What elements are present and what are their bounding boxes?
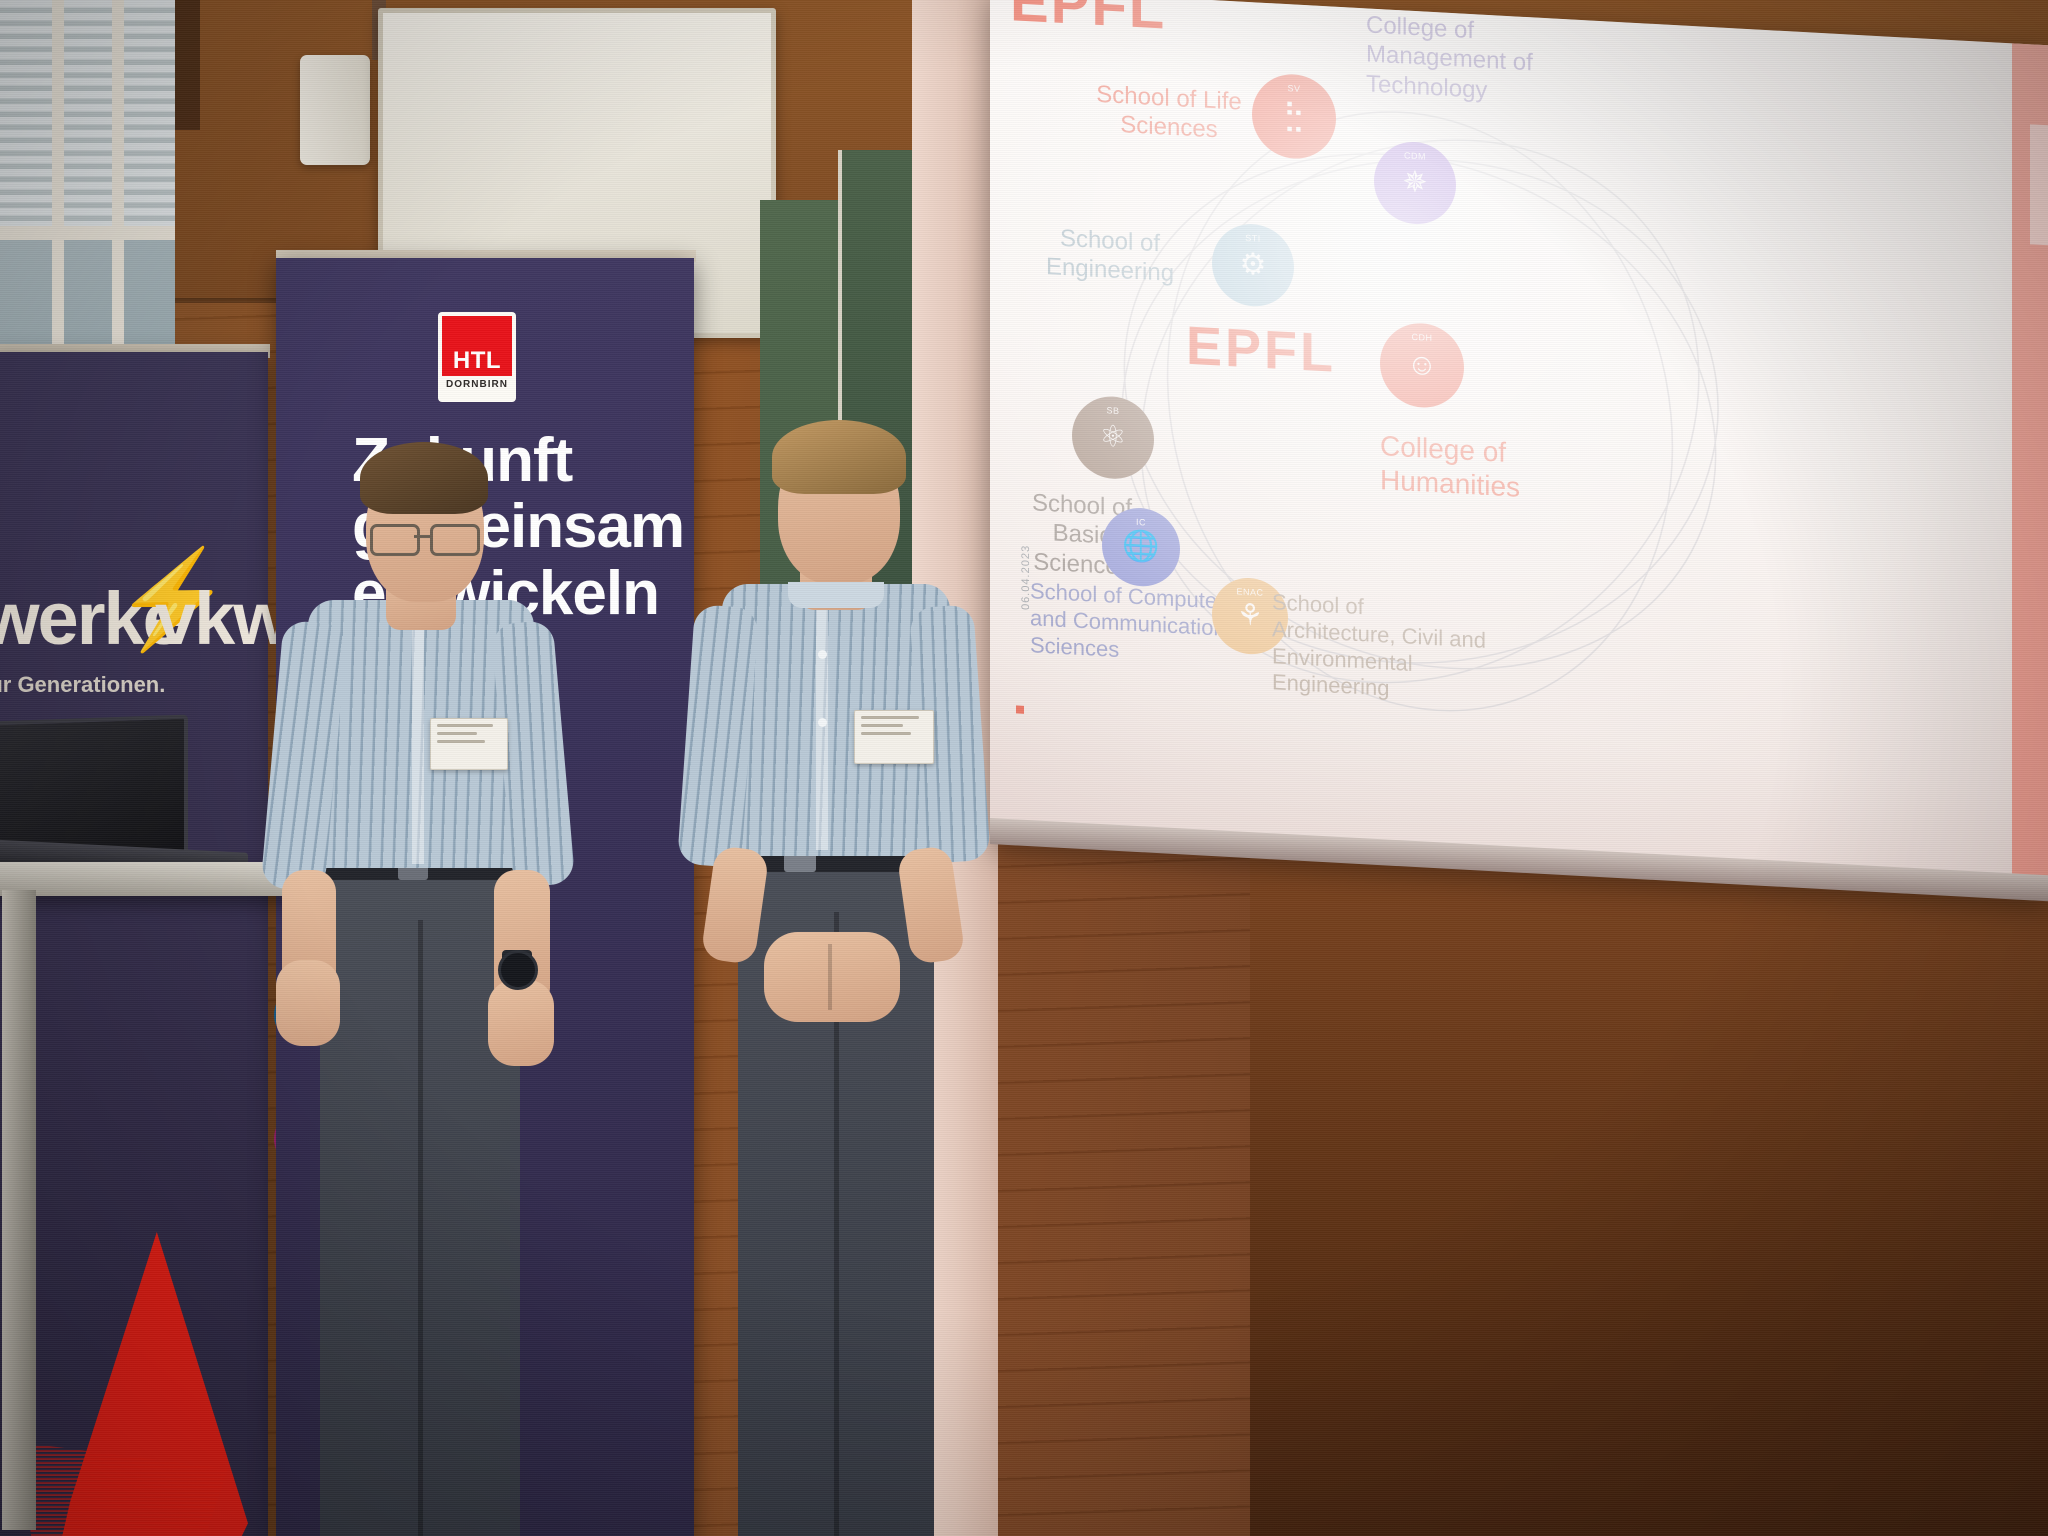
molecule-icon: ✵	[1402, 167, 1427, 198]
lower-wall-panel	[1250, 830, 2048, 1536]
label-architecture: School of Architecture, Civil and Enviro…	[1272, 589, 1522, 710]
slide-date: 06.04.2023	[1020, 545, 1032, 611]
clasped-hands	[764, 932, 900, 1022]
node-tag: STI	[1245, 233, 1261, 244]
presenter-left	[258, 450, 578, 1536]
dna-icon: ⣓	[1283, 101, 1305, 132]
hair	[772, 420, 906, 494]
hand-right	[488, 980, 554, 1066]
slide-right-mark	[2030, 124, 2048, 245]
name-badge	[430, 718, 508, 770]
label-engineering: School of Engineering	[1010, 221, 1210, 290]
slide-accent-dot	[1016, 705, 1024, 713]
htl-logo: HTL DORNBIRN	[438, 312, 516, 402]
window	[0, 0, 175, 355]
atom-icon: ⚛	[1100, 422, 1127, 453]
node-tag: SV	[1287, 83, 1300, 94]
trouser-seam	[418, 920, 423, 1536]
label-life-sciences: School of Life Sciences	[1074, 79, 1264, 148]
hair	[360, 442, 488, 514]
node-tag: SB	[1106, 405, 1119, 416]
node-tag: IC	[1136, 517, 1146, 528]
htl-logo-subtext: DORNBIRN	[442, 379, 512, 390]
name-badge	[854, 710, 934, 764]
air-vent	[300, 55, 370, 165]
presenter-right	[668, 432, 988, 1536]
hand-left	[276, 960, 340, 1046]
window-rail	[0, 226, 175, 240]
screenshot-root: EPFL EPFL SV ⣓ School of Life Sciences C…	[0, 0, 2048, 1536]
vkw-tagline: für Generationen.	[0, 672, 165, 698]
label-management-technology: College of Management of Technology	[1366, 10, 1596, 110]
glasses-icon	[370, 524, 478, 550]
collar	[788, 582, 884, 608]
window-mullion	[52, 0, 64, 355]
shirt-button	[818, 718, 827, 727]
node-tag: ENAC	[1236, 586, 1263, 597]
lectern-post	[2, 890, 36, 1530]
epfl-slide: EPFL EPFL SV ⣓ School of Life Sciences C…	[990, 0, 2048, 898]
label-humanities: College of Humanities	[1380, 429, 1630, 511]
leaf-icon: ⚘	[1237, 600, 1264, 631]
node-tag: CDM	[1404, 150, 1426, 161]
window-blinds	[0, 0, 175, 230]
globe-icon: 🌐	[1122, 531, 1159, 563]
htl-logo-mark: HTL	[442, 316, 512, 376]
projection-screen: EPFL EPFL SV ⣓ School of Life Sciences C…	[990, 0, 2048, 898]
vkw-banner: CI TX	[0, 352, 268, 1536]
htl-logo-text: HTL	[453, 347, 501, 376]
wristwatch	[498, 950, 538, 990]
shirt-placket	[412, 608, 424, 864]
hand-crease	[828, 944, 832, 1010]
epfl-center-logo: EPFL	[1186, 315, 1336, 385]
shirt-button	[818, 650, 827, 659]
node-tag: CDH	[1412, 332, 1433, 343]
gears-icon: ⚙	[1240, 250, 1267, 281]
window-mullion	[112, 0, 124, 355]
people-icon: ☺	[1407, 350, 1438, 382]
